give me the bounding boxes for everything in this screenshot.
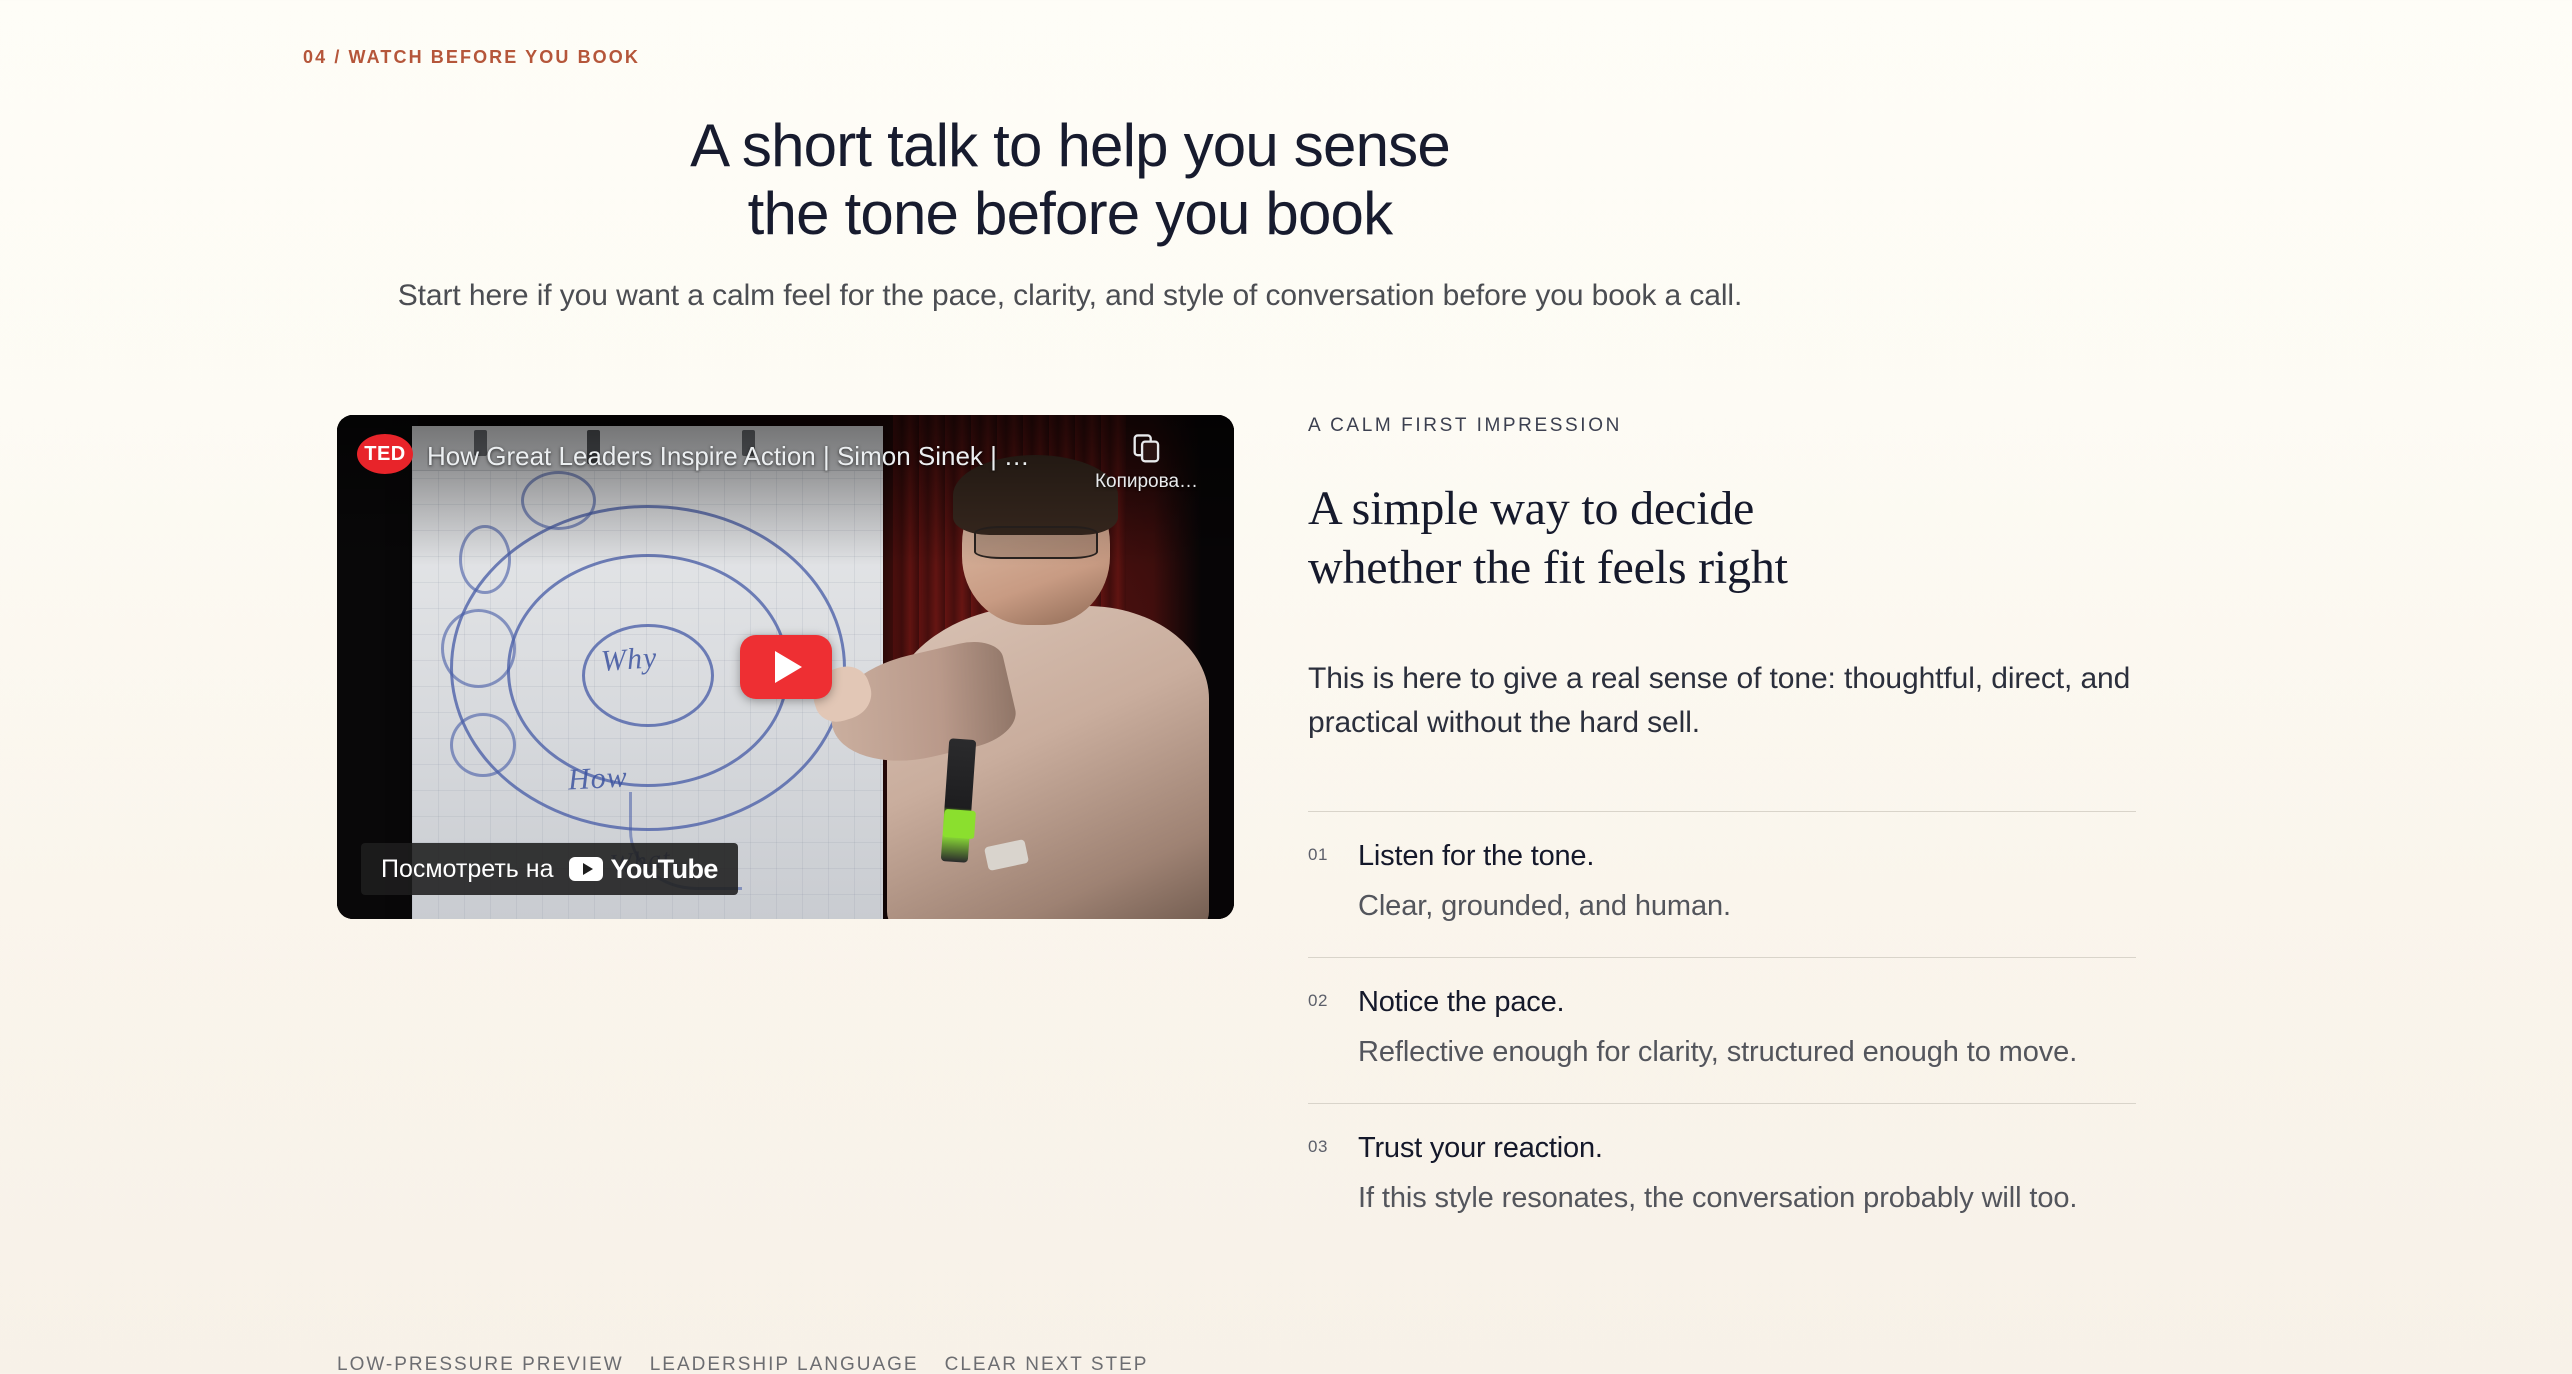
page-title-line2: the tone before you book [748,180,1393,247]
step-number: 01 [1308,839,1336,927]
youtube-video-embed[interactable]: Why How What TED How Grea [337,415,1234,919]
speaker-glasses [974,526,1098,559]
youtube-play-icon [569,857,603,881]
ted-channel-badge[interactable]: TED [357,434,413,474]
step-heading: Listen for the tone. [1358,839,2136,874]
youtube-wordmark: YouTube [610,854,717,885]
microphone-green-band [943,809,975,839]
step-number: 03 [1308,1131,1336,1219]
sketch-blob [459,525,511,594]
step-detail: If this style resonates, the conversatio… [1358,1178,2136,1219]
speaker-figure [821,445,1234,919]
sketch-blob [521,471,596,530]
page-subtitle: Start here if you want a calm feel for t… [0,274,2140,318]
info-column: A CALM FIRST IMPRESSION A simple way to … [1308,415,2136,1219]
list-item: 01 Listen for the tone. Clear, grounded,… [1308,811,2136,957]
list-item: 02 Notice the pace. Reflective enough fo… [1308,957,2136,1103]
step-content: Listen for the tone. Clear, grounded, an… [1358,839,2136,927]
info-title-line2: whether the fit feels right [1308,541,1788,594]
play-button[interactable] [740,635,832,699]
tag-leadership-language[interactable]: LEADERSHIP LANGUAGE [650,1354,919,1374]
marker-text-why: Why [600,641,659,679]
step-heading: Notice the pace. [1358,985,2136,1020]
video-title[interactable]: How Great Leaders Inspire Action | Simon… [427,440,1037,473]
page-root: 04 / WATCH BEFORE YOU BOOK A short talk … [0,0,2572,1374]
step-number: 02 [1308,985,1336,1073]
sketch-blob [450,713,516,777]
info-title-line1: A simple way to decide [1308,482,1754,535]
info-title: A simple way to decide whether the fit f… [1308,480,2136,597]
steps-list: 01 Listen for the tone. Clear, grounded,… [1308,811,2136,1219]
info-body: This is here to give a real sense of ton… [1308,657,2136,745]
tag-low-pressure-preview[interactable]: LOW-PRESSURE PREVIEW [337,1354,624,1374]
copy-link-icon [1132,433,1162,465]
copy-link-label: Копирова… [1079,471,1214,493]
youtube-logo: YouTube [569,854,717,885]
list-item: 03 Trust your reaction. If this style re… [1308,1103,2136,1219]
watch-on-youtube-button[interactable]: Посмотреть на YouTube [361,843,738,895]
step-content: Notice the pace. Reflective enough for c… [1358,985,2136,1073]
tag-clear-next-step[interactable]: CLEAR NEXT STEP [945,1354,1149,1374]
copy-link-button[interactable]: Копирова… [1079,433,1214,493]
step-heading: Trust your reaction. [1358,1131,2136,1166]
section-eyebrow: 04 / WATCH BEFORE YOU BOOK [303,47,640,68]
video-column: Why How What TED How Grea [337,415,1234,919]
page-title-line1: A short talk to help you sense [690,112,1450,179]
info-kicker: A CALM FIRST IMPRESSION [1308,415,2136,437]
step-detail: Reflective enough for clarity, structure… [1358,1032,2136,1073]
watch-on-youtube-label: Посмотреть на [381,855,553,884]
step-detail: Clear, grounded, and human. [1358,886,2136,927]
marker-text-how: How [567,760,628,797]
page-title: A short talk to help you sense the tone … [0,112,2140,248]
video-tag-list: LOW-PRESSURE PREVIEW LEADERSHIP LANGUAGE… [337,1354,1148,1374]
hero-block: A short talk to help you sense the tone … [0,112,2140,318]
step-content: Trust your reaction. If this style reson… [1358,1131,2136,1219]
play-icon [775,651,802,683]
sketch-blob [441,609,516,688]
